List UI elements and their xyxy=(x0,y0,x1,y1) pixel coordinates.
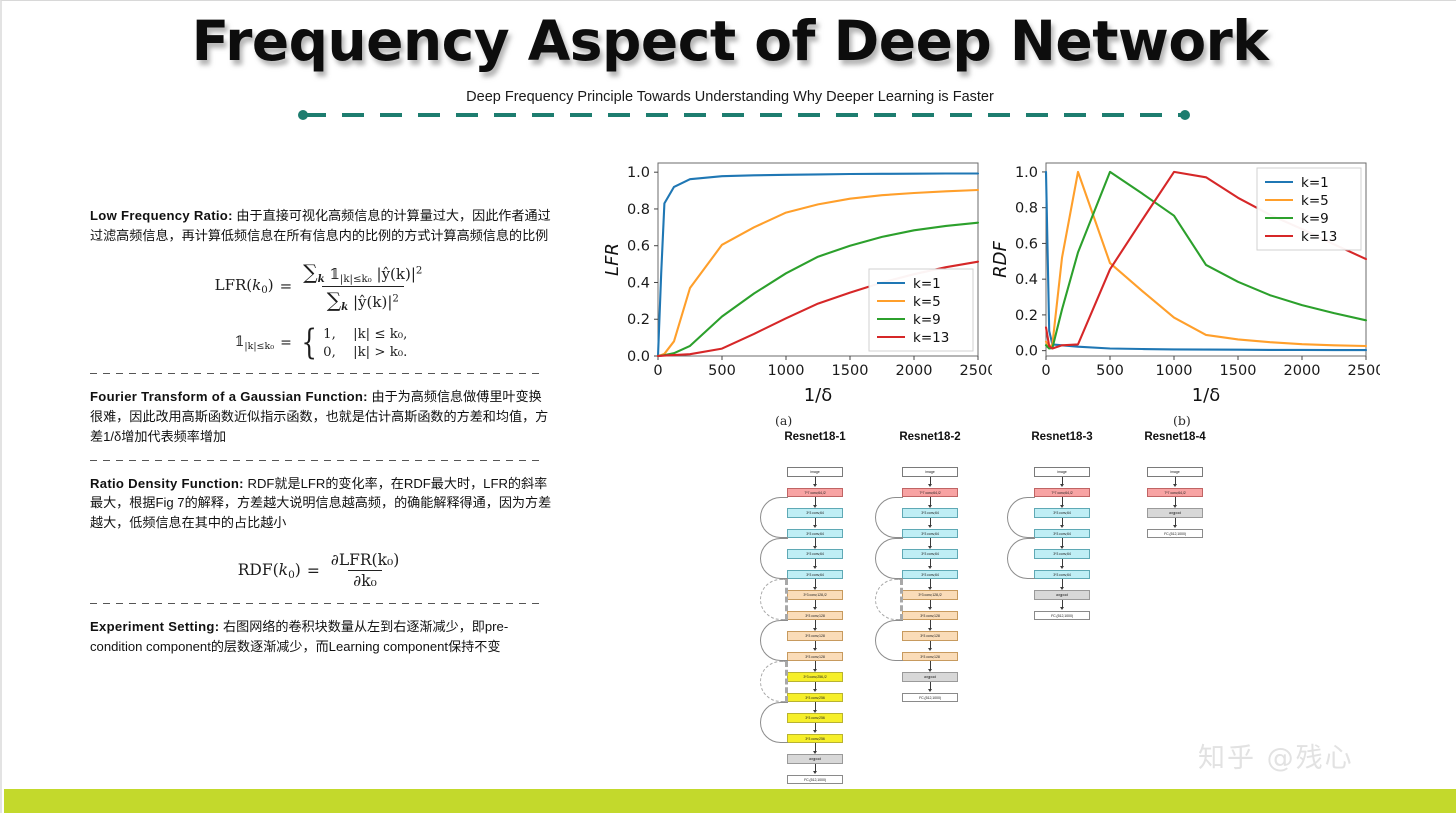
flow-arrow xyxy=(930,641,931,649)
section-heading: Experiment Setting: xyxy=(90,619,219,634)
flow-arrow xyxy=(1062,579,1063,587)
flow-arrow xyxy=(930,497,931,505)
resnet-block: 3*3 conv,64 xyxy=(902,508,958,518)
flow-arrow xyxy=(815,682,816,690)
watermark: 知乎 @残心 xyxy=(1198,736,1354,775)
resnet-block: 3*3 conv,64 xyxy=(1034,549,1090,559)
flow-arrow xyxy=(930,518,931,526)
svg-text:k=5: k=5 xyxy=(1301,193,1329,209)
formula-indicator: 𝟙|k|≤k₀ = { 1, |k| ≤ k₀, 0, |k| > k₀. xyxy=(90,327,552,360)
section-heading: Low Frequency Ratio: xyxy=(90,208,233,223)
formula-rdf-denominator: ∂k₀ xyxy=(348,570,382,590)
flow-arrow xyxy=(815,641,816,649)
equals-sign: = xyxy=(307,562,320,580)
resnet-column-title: Resnet18-3 xyxy=(1019,431,1105,443)
flow-arrow xyxy=(930,661,931,669)
resnet-block: 3*3 conv,64 xyxy=(787,549,843,559)
resnet-block: FC,(512,1000) xyxy=(1147,529,1203,539)
residual-skip-connection xyxy=(760,702,788,743)
flow-arrow xyxy=(815,764,816,772)
svg-text:k=13: k=13 xyxy=(1301,229,1337,245)
flow-arrow xyxy=(1175,477,1176,485)
resnet-block: 3*3 conv,256 xyxy=(787,734,843,744)
residual-skip-connection xyxy=(1007,538,1035,579)
resnet-block: 3*3 conv,64 xyxy=(787,529,843,539)
svg-text:0.8: 0.8 xyxy=(1015,201,1038,217)
resnet-column-title: Resnet18-2 xyxy=(887,431,973,443)
flow-arrow xyxy=(815,579,816,587)
resnet-block: 3*3 conv,64 xyxy=(787,570,843,580)
formula-rdf-lhs: RDF(k0) xyxy=(238,561,301,581)
formula-lfr-fraction: ∑k 𝟙|k|≤k₀ |ŷ(k)|2 ∑k |ŷ(k)|2 xyxy=(298,260,427,313)
resnet-block: 3*3 conv,64 xyxy=(787,508,843,518)
section-low-frequency-ratio: Low Frequency Ratio: 由于直接可视化高频信息的计算量过大，因… xyxy=(90,206,552,246)
resnet-block: image xyxy=(787,467,843,477)
resnet-block: avgpool xyxy=(1147,508,1203,518)
resnet-block: 3*3 conv,64 xyxy=(902,549,958,559)
svg-text:k=9: k=9 xyxy=(1301,211,1329,227)
case-row: 1, |k| ≤ k₀, xyxy=(323,327,407,342)
flow-arrow xyxy=(930,682,931,690)
resnet-block: 3*3 conv,128 xyxy=(902,652,958,662)
divider-dot-right-icon xyxy=(1180,110,1190,120)
resnet-block: FC,(512,1000) xyxy=(1034,611,1090,621)
resnet-block: 3*3 conv,64 xyxy=(902,529,958,539)
svg-text:k=9: k=9 xyxy=(913,312,941,328)
lfr-chart: 050010001500200025000.00.20.40.60.81.01/… xyxy=(602,151,992,406)
svg-text:0.6: 0.6 xyxy=(627,239,650,255)
residual-skip-connection xyxy=(760,497,788,538)
formula-indicator-cases: { 1, |k| ≤ k₀, 0, |k| > k₀. xyxy=(298,327,408,360)
resnet-block: avgpool xyxy=(1034,590,1090,600)
residual-skip-connection xyxy=(875,579,903,620)
formula-lfr-denominator: ∑k |ŷ(k)|2 xyxy=(322,286,404,313)
flow-arrow xyxy=(815,600,816,608)
svg-text:500: 500 xyxy=(708,363,736,379)
resnet-block: 3*3 conv,128,/2 xyxy=(902,590,958,600)
svg-text:2000: 2000 xyxy=(1284,363,1321,379)
left-brace-icon: { xyxy=(301,330,317,356)
flow-arrow xyxy=(930,538,931,546)
svg-text:0.4: 0.4 xyxy=(627,275,650,291)
resnet-block: 3*3 conv,256 xyxy=(787,693,843,703)
formula-rdf-numerator: ∂LFR(k₀) xyxy=(326,551,404,570)
svg-text:2000: 2000 xyxy=(896,363,933,379)
formula-rdf-fraction: ∂LFR(k₀) ∂k₀ xyxy=(326,551,404,590)
resnet-column-title: Resnet18-4 xyxy=(1132,431,1218,443)
resnet-block: 3*3 conv,128,/2 xyxy=(787,590,843,600)
svg-text:2500: 2500 xyxy=(1348,363,1380,379)
formula-lfr: LFR(k0) = ∑k 𝟙|k|≤k₀ |ŷ(k)|2 ∑k |ŷ(k)|2 xyxy=(90,260,552,313)
resnet-block: FC,(512,1000) xyxy=(902,693,958,703)
header-divider xyxy=(298,109,1190,121)
notes-column: Low Frequency Ratio: 由于直接可视化高频信息的计算量过大，因… xyxy=(90,206,552,657)
resnet-block: 7*7 conv,64,/2 xyxy=(1147,488,1203,498)
equals-sign: = xyxy=(280,277,293,295)
formula-indicator-lhs: 𝟙|k|≤k₀ xyxy=(235,334,274,352)
svg-text:1/δ: 1/δ xyxy=(804,385,833,406)
svg-text:0.6: 0.6 xyxy=(1015,236,1038,252)
resnet-block: 3*3 conv,128 xyxy=(902,631,958,641)
svg-text:k=13: k=13 xyxy=(913,330,949,346)
flow-arrow xyxy=(1062,497,1063,505)
svg-text:RDF: RDF xyxy=(990,241,1011,278)
formula-rdf: RDF(k0) = ∂LFR(k₀) ∂k₀ xyxy=(90,551,552,590)
flow-arrow xyxy=(1062,538,1063,546)
flow-arrow xyxy=(1062,559,1063,567)
svg-text:0: 0 xyxy=(653,363,662,379)
resnet-block: 3*3 conv,128 xyxy=(787,611,843,621)
section-separator xyxy=(90,460,540,461)
page-subtitle: Deep Frequency Principle Towards Underst… xyxy=(2,89,1456,105)
section-separator xyxy=(90,603,540,604)
flow-arrow xyxy=(930,559,931,567)
flow-arrow xyxy=(930,477,931,485)
flow-arrow xyxy=(815,477,816,485)
residual-skip-connection xyxy=(760,538,788,579)
resnet-block: 3*3 conv,64 xyxy=(902,570,958,580)
svg-text:0.0: 0.0 xyxy=(627,349,650,365)
svg-text:1500: 1500 xyxy=(832,363,869,379)
divider-dashed-line xyxy=(304,113,1184,117)
section-heading: Ratio Density Function: xyxy=(90,476,244,491)
formula-lfr-lhs: LFR(k0) xyxy=(215,276,274,296)
flow-arrow xyxy=(815,702,816,710)
case-row: 0, |k| > k₀. xyxy=(323,345,407,360)
flow-arrow xyxy=(1062,600,1063,608)
residual-skip-connection xyxy=(760,620,788,661)
slide-root: Frequency Aspect of Deep Network Deep Fr… xyxy=(0,0,1456,813)
resnet-block: 3*3 conv,128 xyxy=(787,631,843,641)
resnet-block: avgpool xyxy=(787,754,843,764)
resnet-block: image xyxy=(1147,467,1203,477)
flow-arrow xyxy=(815,518,816,526)
svg-text:500: 500 xyxy=(1096,363,1124,379)
flow-arrow xyxy=(815,661,816,669)
section-ratio-density-function: Ratio Density Function: RDF就是LFR的变化率，在RD… xyxy=(90,474,552,534)
flow-arrow xyxy=(1175,518,1176,526)
flow-arrow xyxy=(815,743,816,751)
resnet-block: 3*3 conv,128 xyxy=(787,652,843,662)
resnet-block: 7*7 conv,64,/2 xyxy=(1034,488,1090,498)
residual-skip-connection xyxy=(1007,497,1035,538)
svg-text:k=5: k=5 xyxy=(913,294,941,310)
svg-text:2500: 2500 xyxy=(960,363,992,379)
section-fourier-transform-gaussian: Fourier Transform of a Gaussian Function… xyxy=(90,387,552,447)
resnet-column-title: Resnet18-1 xyxy=(772,431,858,443)
section-separator xyxy=(90,373,540,374)
page-title: Frequency Aspect of Deep Network xyxy=(2,9,1456,73)
svg-text:0.8: 0.8 xyxy=(627,202,650,218)
resnet-block: 3*3 conv,64 xyxy=(1034,570,1090,580)
svg-text:0: 0 xyxy=(1041,363,1050,379)
flow-arrow xyxy=(815,620,816,628)
flow-arrow xyxy=(930,620,931,628)
svg-text:1000: 1000 xyxy=(1156,363,1193,379)
svg-text:1500: 1500 xyxy=(1220,363,1257,379)
slide-header: Frequency Aspect of Deep Network Deep Fr… xyxy=(2,1,1456,133)
flow-arrow xyxy=(815,723,816,731)
svg-text:k=1: k=1 xyxy=(913,276,941,292)
resnet-block: 3*3 conv,128 xyxy=(902,611,958,621)
formula-lfr-numerator: ∑k 𝟙|k|≤k₀ |ŷ(k)|2 xyxy=(298,260,427,286)
resnet-block: 7*7 conv,64,/2 xyxy=(787,488,843,498)
flow-arrow xyxy=(815,559,816,567)
svg-text:1.0: 1.0 xyxy=(1015,165,1038,181)
flow-arrow xyxy=(1175,497,1176,505)
resnet-block: 3*3 conv,256,/2 xyxy=(787,672,843,682)
svg-text:LFR: LFR xyxy=(602,243,623,276)
flow-arrow xyxy=(815,538,816,546)
resnet-block: image xyxy=(1034,467,1090,477)
flow-arrow xyxy=(815,497,816,505)
resnet-block: image xyxy=(902,467,958,477)
flow-arrow xyxy=(930,600,931,608)
rdf-chart-svg: 050010001500200025000.00.20.40.60.81.01/… xyxy=(990,151,1380,406)
rdf-chart: 050010001500200025000.00.20.40.60.81.01/… xyxy=(990,151,1380,406)
residual-skip-connection xyxy=(875,620,903,661)
svg-text:0.4: 0.4 xyxy=(1015,272,1038,288)
residual-skip-connection xyxy=(875,497,903,538)
resnet-figure: (a) (b) Resnet18-1image7*7 conv,64,/23*3… xyxy=(747,409,1247,784)
svg-text:1/δ: 1/δ xyxy=(1192,385,1221,406)
svg-text:0.2: 0.2 xyxy=(627,312,650,328)
flow-arrow xyxy=(1062,477,1063,485)
svg-text:0.2: 0.2 xyxy=(1015,308,1038,324)
svg-text:1.0: 1.0 xyxy=(627,165,650,181)
flow-arrow xyxy=(1062,518,1063,526)
flow-arrow xyxy=(930,579,931,587)
resnet-block: 3*3 conv,64 xyxy=(1034,529,1090,539)
residual-skip-connection xyxy=(875,538,903,579)
residual-skip-connection xyxy=(760,579,788,620)
section-experiment-setting: Experiment Setting: 右图网络的卷积块数量从左到右逐渐减少，即… xyxy=(90,617,552,657)
svg-text:k=1: k=1 xyxy=(1301,175,1329,191)
resnet-block: 3*3 conv,64 xyxy=(1034,508,1090,518)
figure-sublabel-b: (b) xyxy=(1173,413,1191,428)
svg-text:0.0: 0.0 xyxy=(1015,344,1038,360)
residual-skip-connection xyxy=(760,661,788,702)
resnet-block: 3*3 conv,256 xyxy=(787,713,843,723)
resnet-block: 7*7 conv,64,/2 xyxy=(902,488,958,498)
footer-bar xyxy=(4,789,1456,813)
figure-sublabel-a: (a) xyxy=(775,413,792,428)
resnet-block: FC,(512,1000) xyxy=(787,775,843,785)
svg-text:1000: 1000 xyxy=(768,363,805,379)
resnet-block: avgpool xyxy=(902,672,958,682)
lfr-chart-svg: 050010001500200025000.00.20.40.60.81.01/… xyxy=(602,151,992,406)
equals-sign: = xyxy=(280,335,292,351)
section-heading: Fourier Transform of a Gaussian Function… xyxy=(90,389,368,404)
